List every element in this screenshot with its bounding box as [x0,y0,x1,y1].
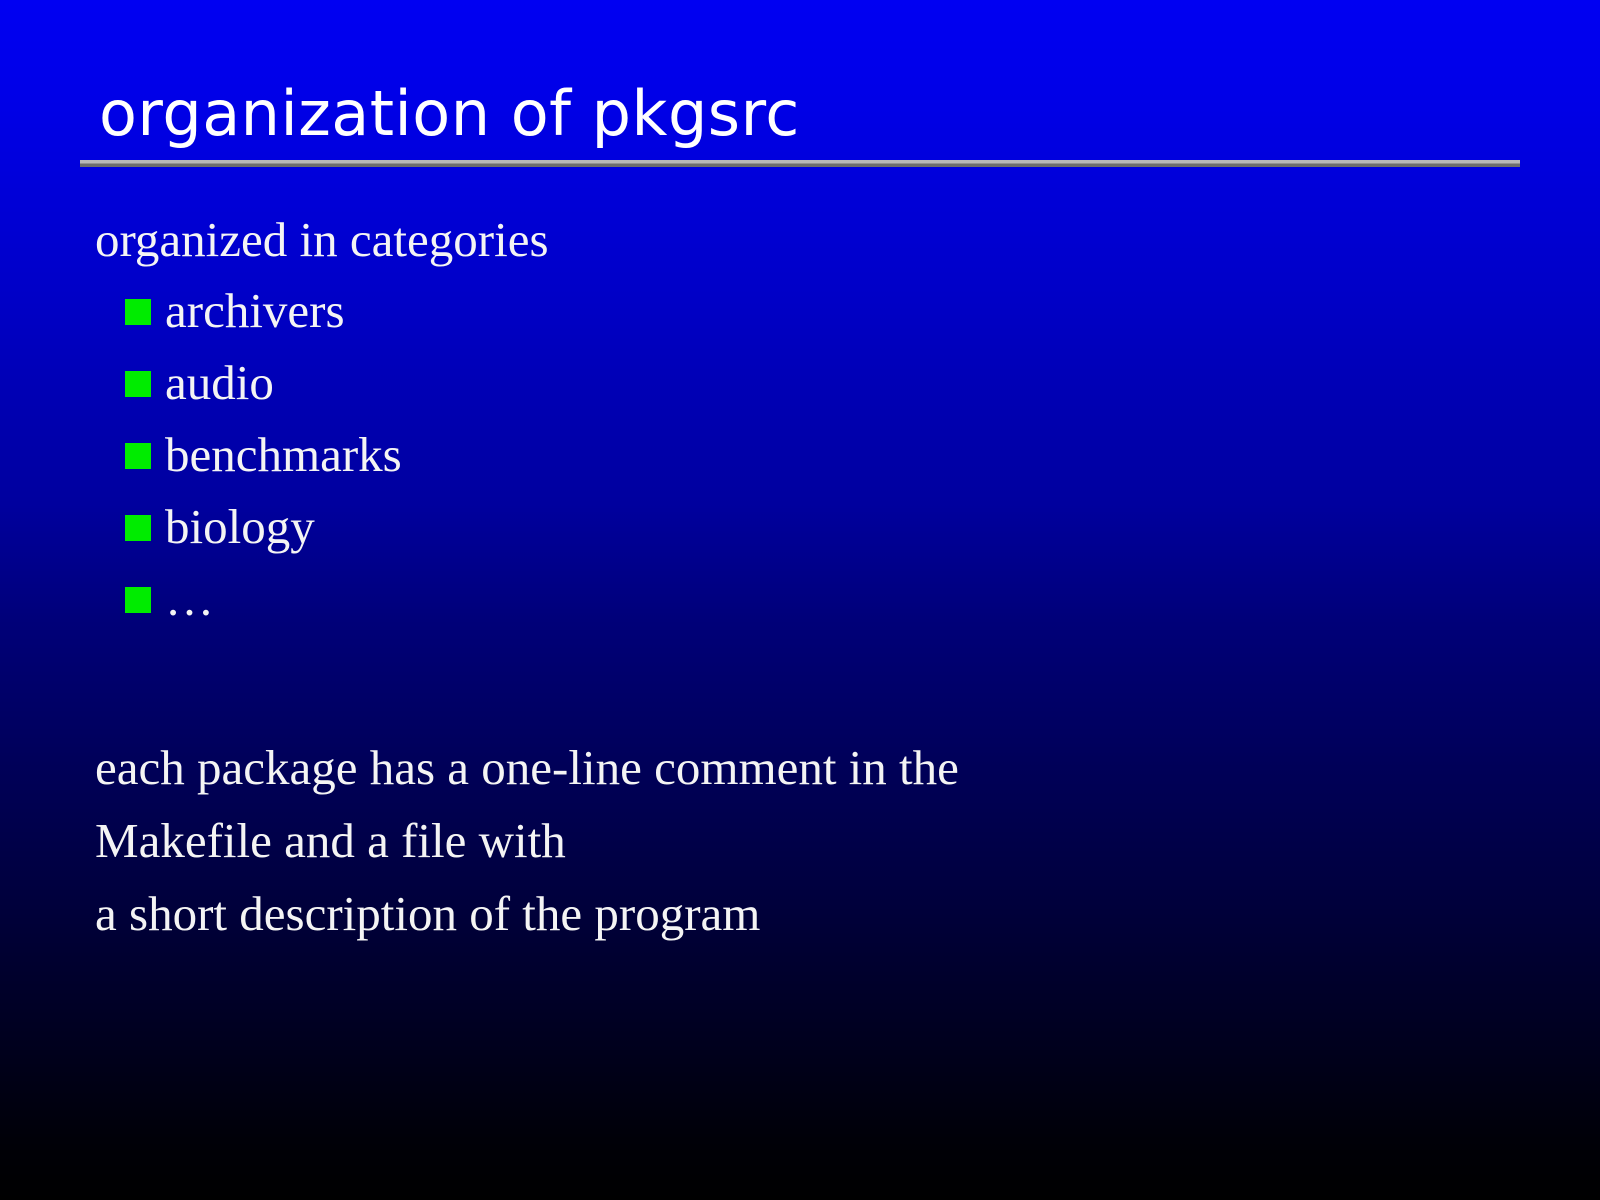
presentation-slide: organization of pkgsrc organized in cate… [0,0,1600,1200]
square-bullet-icon [125,443,151,469]
list-item: audio [125,347,1545,419]
list-item: benchmarks [125,419,1545,491]
square-bullet-icon [125,371,151,397]
square-bullet-icon [125,515,151,541]
list-item-label: … [165,571,214,627]
category-list: archivers audio benchmarks biology … [95,275,1545,635]
slide-body: organized in categories archivers audio … [95,209,1545,950]
list-item-label: benchmarks [165,427,402,483]
list-item-label: archivers [165,283,345,339]
slide-title-block: organization of pkgsrc [80,78,1520,167]
square-bullet-icon [125,299,151,325]
paragraph-line: Makefile and a file with [95,804,1545,877]
list-item-label: audio [165,355,274,411]
list-item-label: biology [165,499,315,555]
page-title: organization of pkgsrc [80,78,1520,150]
paragraph-line: a short description of the program [95,877,1545,950]
list-item: biology [125,491,1545,563]
description-paragraph: each package has a one-line comment in t… [95,731,1545,950]
lead-line: organized in categories [95,209,1545,271]
list-item: archivers [125,275,1545,347]
paragraph-line: each package has a one-line comment in t… [95,731,1545,804]
square-bullet-icon [125,587,151,613]
title-divider [80,160,1520,167]
list-item: … [125,563,1545,635]
